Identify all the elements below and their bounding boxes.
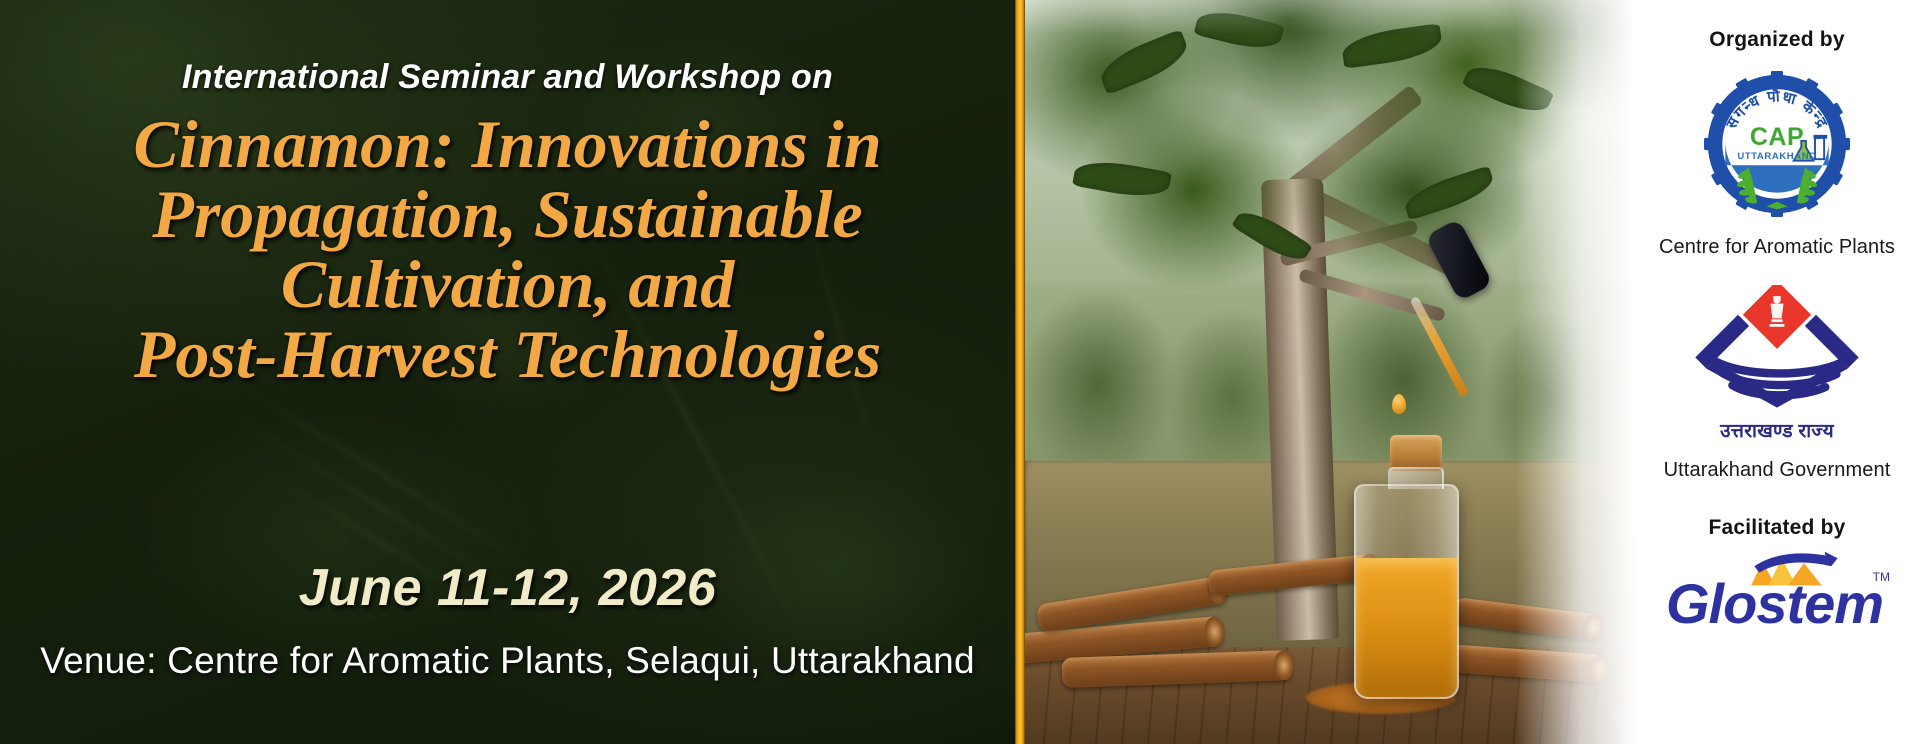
cap-acronym: CAP [1723, 126, 1831, 150]
uttarakhand-caption: Uttarakhand Government [1664, 459, 1891, 482]
cinnamon-photo [1025, 0, 1635, 744]
ashoka-emblem-icon [1743, 285, 1811, 349]
bottle-cork [1390, 435, 1442, 471]
event-venue: Venue: Centre for Aromatic Plants, Selaq… [40, 640, 974, 682]
uttarakhand-logo-slot [1682, 285, 1872, 415]
organized-by-label: Organized by [1709, 28, 1844, 52]
sponsor-panel: Organized by [1635, 0, 1919, 744]
title-line-1: Cinnamon: Innovations in [133, 109, 881, 179]
oil-droplet [1392, 394, 1406, 414]
gold-divider [1015, 0, 1025, 744]
cap-logo-slot: सगन्ध पौधा केन्द्र [1701, 68, 1853, 220]
essential-oil-bottle [1354, 484, 1459, 699]
glostem-logo: Glostem TM [1662, 556, 1892, 632]
event-kicker: International Seminar and Workshop on [182, 58, 833, 97]
uttarakhand-hindi-text: उत्तराखण्ड राज्य [1720, 417, 1834, 443]
title-line-4: Post-Harvest Technologies [133, 319, 881, 389]
conference-banner: International Seminar and Workshop on Ci… [0, 0, 1919, 744]
facilitated-by-label: Facilitated by [1708, 516, 1845, 540]
photo-right-fade [1515, 0, 1635, 744]
page-title: Cinnamon: Innovations in Propagation, Su… [133, 109, 881, 389]
uttarakhand-emblem-icon [1682, 285, 1872, 415]
cap-logo: सगन्ध पौधा केन्द्र [1701, 68, 1853, 220]
cap-caption: Centre for Aromatic Plants [1659, 236, 1895, 259]
title-line-2: Propagation, Sustainable [133, 179, 881, 249]
glostem-logo-slot: Glostem TM [1662, 556, 1892, 632]
cap-state: UTTARAKHAND [1723, 151, 1831, 162]
title-line-3: Cultivation, and [133, 249, 881, 319]
uttarakhand-government-logo [1682, 285, 1872, 415]
bottle-oil-fill [1356, 558, 1457, 697]
cap-wordmark: CAP UTTARAKHAND [1723, 126, 1831, 162]
trademark-symbol: TM [1873, 570, 1890, 584]
title-panel: International Seminar and Workshop on Ci… [0, 0, 1015, 744]
event-date: June 11-12, 2026 [299, 558, 717, 618]
glostem-wordmark: Glostem [1666, 576, 1883, 632]
